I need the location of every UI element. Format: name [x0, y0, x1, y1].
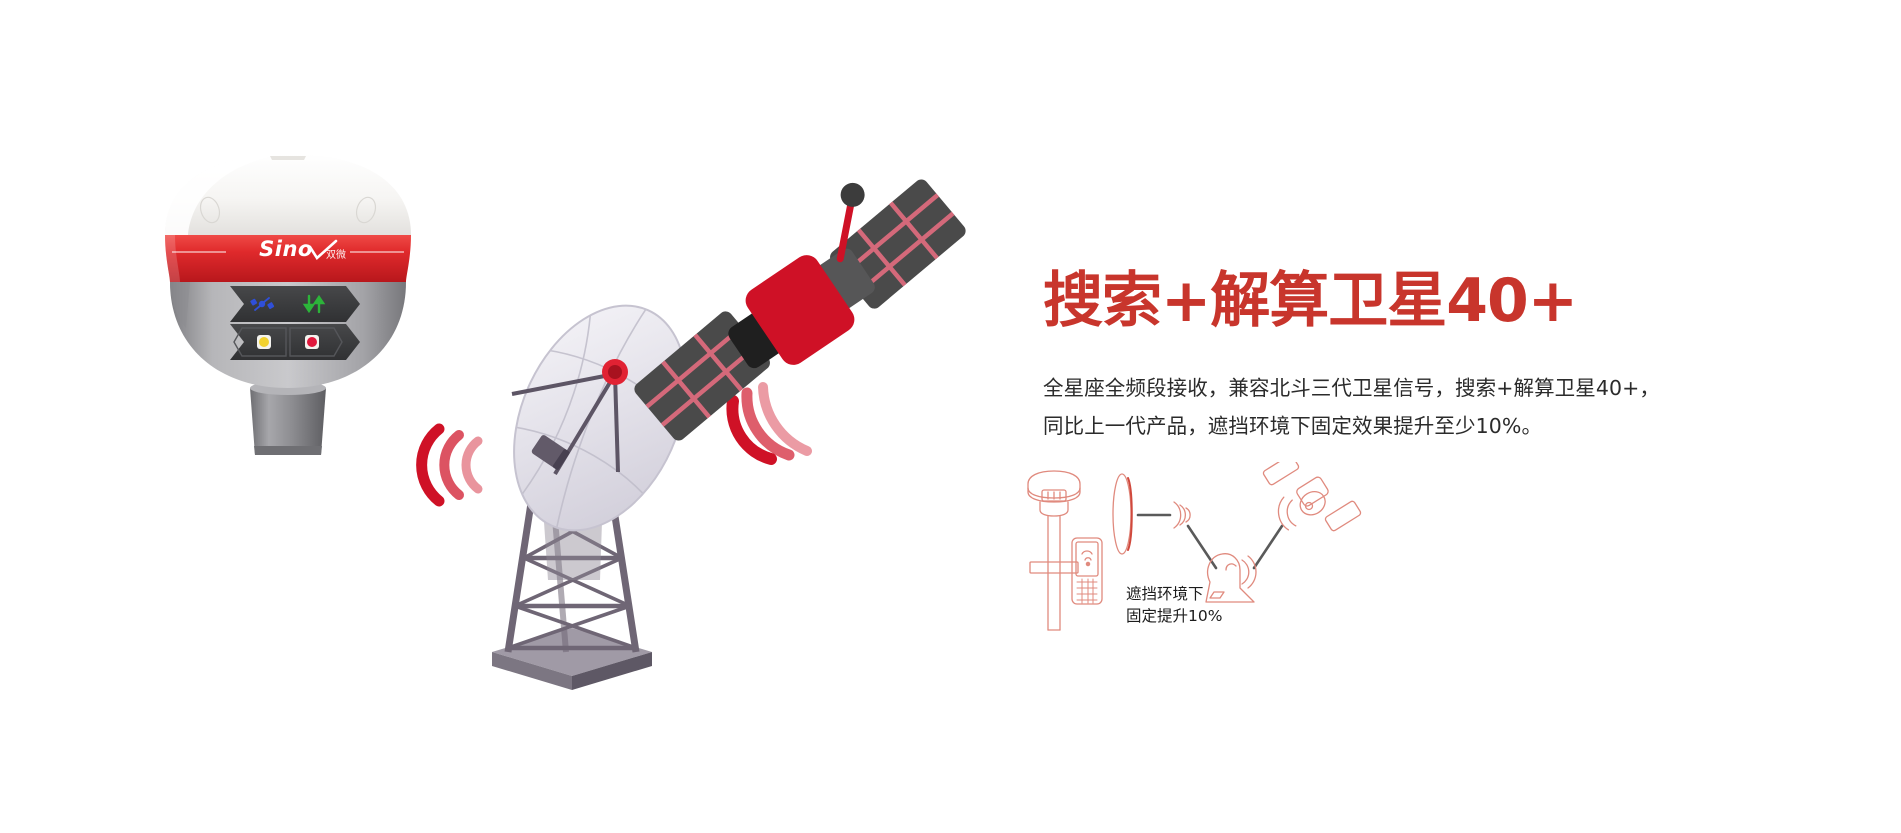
obstruction-barrier	[1113, 474, 1132, 554]
dish-feed-horn	[602, 359, 628, 385]
handheld-controller	[1072, 538, 1102, 604]
rf-signal-waves-receiver	[422, 429, 478, 501]
illustration-svg: Sino 双微	[0, 0, 1000, 833]
copy-block: 搜索+解算卫星40+ 全星座全频段接收，兼容北斗三代卫星信号，搜索+解算卫星40…	[1043, 268, 1683, 446]
hero-illustration: Sino 双微	[0, 0, 1000, 833]
receiver-dome	[165, 154, 411, 235]
gnss-satellite	[604, 143, 976, 449]
receiver-mount-stem	[250, 381, 326, 455]
brand-logo-text: Sino	[259, 237, 313, 261]
dish-base-platform	[492, 628, 652, 690]
orbiting-satellite	[1262, 462, 1361, 532]
attenuated-signal-wave	[1174, 502, 1190, 528]
power-led-yellow[interactable]	[257, 335, 271, 349]
rf-signal-waves-satellite	[732, 387, 807, 459]
brand-logo-cn: 双微	[326, 248, 346, 261]
receiver-collar: Sino 双微	[165, 235, 411, 282]
body-copy: 全星座全频段接收，兼容北斗三代卫星信号，搜索+解算卫星40+，同比上一代产品，遮…	[1043, 370, 1668, 446]
headline: 搜索+解算卫星40+	[1043, 268, 1683, 335]
product-feature-banner: Sino 双微	[0, 0, 1901, 833]
gnss-receiver-device: Sino 双微	[165, 154, 411, 455]
diagram-caption: 遮挡环境下 固定提升10%	[1126, 583, 1222, 627]
record-led-red[interactable]	[305, 335, 319, 349]
